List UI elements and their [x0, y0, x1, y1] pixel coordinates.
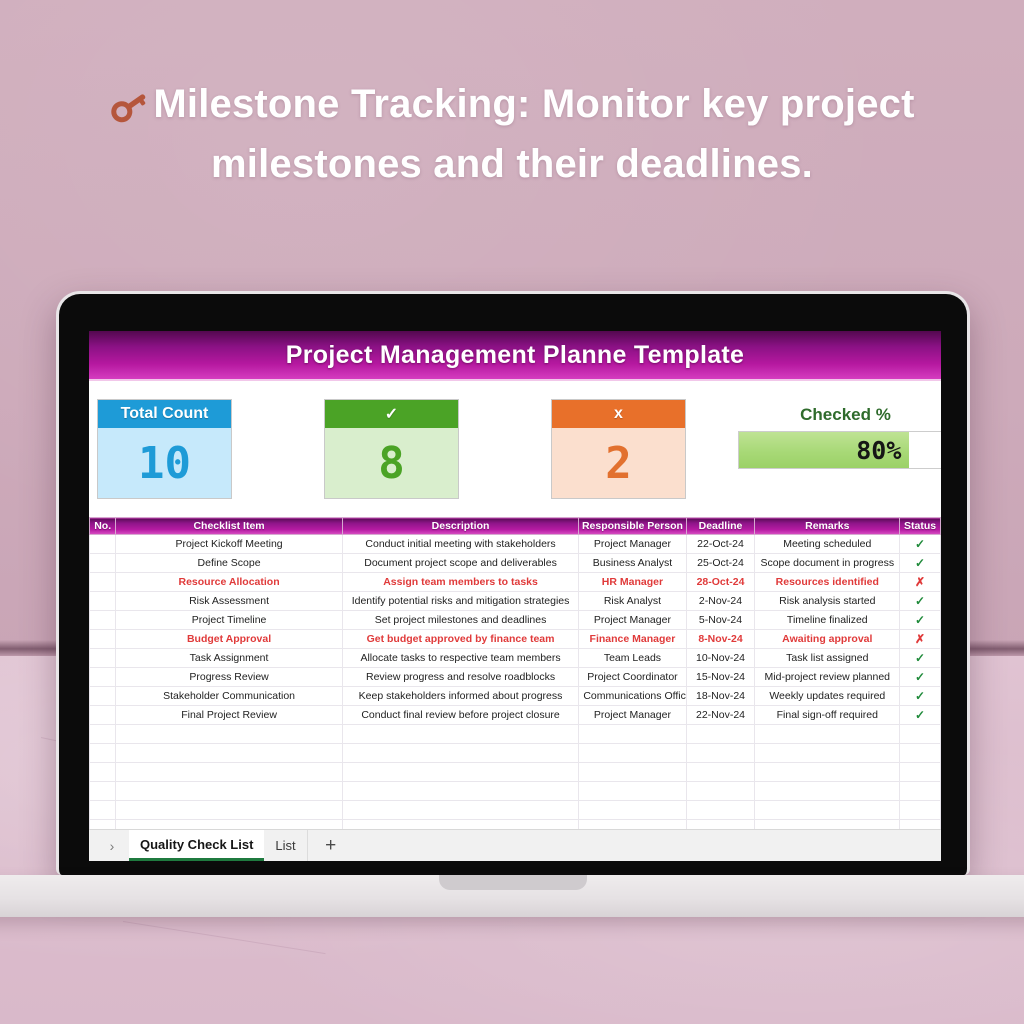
col-header-deadline[interactable]: Deadline [686, 518, 755, 535]
table-row[interactable]: Final Project ReviewConduct final review… [90, 706, 941, 725]
kpi-unchecked-count-value: 2 [552, 428, 685, 498]
cell-empty[interactable] [755, 744, 900, 763]
cell-empty[interactable] [116, 820, 342, 830]
cell-description[interactable]: Identify potential risks and mitigation … [342, 592, 579, 611]
cell-description[interactable]: Set project milestones and deadlines [342, 611, 579, 630]
cell-remarks[interactable]: Risk analysis started [755, 592, 900, 611]
cell-remarks[interactable]: Meeting scheduled [755, 535, 900, 554]
row-number[interactable] [90, 630, 116, 649]
cell-checklist-item[interactable]: Resource Allocation [116, 573, 342, 592]
table-row-empty[interactable] [90, 820, 941, 830]
table-row-empty[interactable] [90, 801, 941, 820]
cell-checklist-item[interactable]: Project Kickoff Meeting [116, 535, 342, 554]
cell-empty[interactable] [755, 801, 900, 820]
cell-responsible-person[interactable]: Team Leads [579, 649, 686, 668]
next-sheet-icon[interactable]: › [95, 830, 129, 861]
cell-empty[interactable] [342, 820, 579, 830]
cell-empty[interactable] [900, 744, 941, 763]
cell-empty[interactable] [116, 763, 342, 782]
sheet-tab-quality-check-list[interactable]: Quality Check List [129, 830, 264, 861]
cell-responsible-person[interactable]: Risk Analyst [579, 592, 686, 611]
row-number[interactable] [90, 687, 116, 706]
sheet-tab-list[interactable]: List [264, 830, 307, 861]
table-row[interactable]: Task AssignmentAllocate tasks to respect… [90, 649, 941, 668]
cell-empty[interactable] [900, 782, 941, 801]
cell-empty[interactable] [579, 801, 686, 820]
cell-empty[interactable] [90, 725, 116, 744]
cell-empty[interactable] [579, 763, 686, 782]
cell-responsible-person[interactable]: Project Manager [579, 611, 686, 630]
kpi-total-count-value: 10 [98, 428, 231, 498]
cell-empty[interactable] [90, 782, 116, 801]
cell-deadline[interactable]: 25-Oct-24 [686, 554, 755, 573]
table-row[interactable]: Resource AllocationAssign team members t… [90, 573, 941, 592]
table-row[interactable]: Budget ApprovalGet budget approved by fi… [90, 630, 941, 649]
cell-empty[interactable] [342, 763, 579, 782]
cell-empty[interactable] [342, 782, 579, 801]
cell-checklist-item[interactable]: Progress Review [116, 668, 342, 687]
cell-description[interactable]: Document project scope and deliverables [342, 554, 579, 573]
laptop-base-notch [439, 875, 587, 890]
checked-percent-label: Checked % [738, 405, 941, 425]
cell-deadline[interactable]: 2-Nov-24 [686, 592, 755, 611]
cell-description[interactable]: Allocate tasks to respective team member… [342, 649, 579, 668]
cell-responsible-person[interactable]: Project Manager [579, 535, 686, 554]
row-number[interactable] [90, 668, 116, 687]
spreadsheet-grid-area[interactable]: No. Checklist Item Description Responsib… [89, 517, 941, 829]
cell-empty[interactable] [116, 782, 342, 801]
col-header-description[interactable]: Description [342, 518, 579, 535]
cell-deadline[interactable]: 22-Nov-24 [686, 706, 755, 725]
cell-deadline[interactable]: 22-Oct-24 [686, 535, 755, 554]
cell-empty[interactable] [90, 801, 116, 820]
row-number[interactable] [90, 611, 116, 630]
cell-deadline[interactable]: 5-Nov-24 [686, 611, 755, 630]
table-row[interactable]: Risk AssessmentIdentify potential risks … [90, 592, 941, 611]
kpi-card-checked-count: ✓ 8 [324, 399, 459, 499]
cross-icon: x [552, 400, 685, 428]
cell-status[interactable]: ✓ [900, 649, 941, 668]
cell-empty[interactable] [579, 725, 686, 744]
headline-text: Milestone Tracking: Monitor key project … [153, 82, 914, 186]
cell-empty[interactable] [900, 820, 941, 830]
cell-deadline[interactable]: 18-Nov-24 [686, 687, 755, 706]
table-row-empty[interactable] [90, 744, 941, 763]
checklist-table: No. Checklist Item Description Responsib… [89, 517, 941, 829]
cell-remarks[interactable]: Scope document in progress [755, 554, 900, 573]
cell-deadline[interactable]: 10-Nov-24 [686, 649, 755, 668]
cell-empty[interactable] [755, 782, 900, 801]
checkmark-icon: ✓ [325, 400, 458, 428]
cell-deadline[interactable]: 15-Nov-24 [686, 668, 755, 687]
laptop-lid: Project Management Planne Template Total… [56, 291, 970, 875]
cell-responsible-person[interactable]: Project Coordinator [579, 668, 686, 687]
table-row[interactable]: Progress ReviewReview progress and resol… [90, 668, 941, 687]
row-number[interactable] [90, 706, 116, 725]
cell-status[interactable]: ✓ [900, 706, 941, 725]
cell-empty[interactable] [579, 820, 686, 830]
cell-empty[interactable] [116, 725, 342, 744]
cell-checklist-item[interactable]: Budget Approval [116, 630, 342, 649]
kpi-total-count-caption: Total Count [98, 400, 231, 428]
table-row[interactable]: Stakeholder CommunicationKeep stakeholde… [90, 687, 941, 706]
cell-description[interactable]: Keep stakeholders informed about progres… [342, 687, 579, 706]
checked-percent-block: Checked % 80% [738, 405, 941, 469]
cell-empty[interactable] [686, 782, 755, 801]
cell-empty[interactable] [686, 820, 755, 830]
add-sheet-button[interactable]: + [308, 830, 354, 861]
kpi-checked-count-value: 8 [325, 428, 458, 498]
cell-status[interactable]: ✓ [900, 668, 941, 687]
cell-checklist-item[interactable]: Define Scope [116, 554, 342, 573]
cell-description[interactable]: Conduct final review before project clos… [342, 706, 579, 725]
cell-responsible-person[interactable]: Communications Officer [579, 687, 686, 706]
row-number[interactable] [90, 649, 116, 668]
row-number[interactable] [90, 573, 116, 592]
cell-empty[interactable] [900, 801, 941, 820]
cell-empty[interactable] [686, 801, 755, 820]
cell-empty[interactable] [686, 725, 755, 744]
cell-status[interactable]: ✓ [900, 554, 941, 573]
screenshot-canvas: Milestone Tracking: Monitor key project … [0, 0, 1024, 1024]
cell-description[interactable]: Conduct initial meeting with stakeholder… [342, 535, 579, 554]
cell-checklist-item[interactable]: Project Timeline [116, 611, 342, 630]
cell-remarks[interactable]: Final sign-off required [755, 706, 900, 725]
cell-empty[interactable] [755, 763, 900, 782]
table-row-empty[interactable] [90, 725, 941, 744]
cell-checklist-item[interactable]: Stakeholder Communication [116, 687, 342, 706]
cell-empty[interactable] [579, 782, 686, 801]
col-header-status[interactable]: Status [900, 518, 941, 535]
spreadsheet-app: Project Management Planne Template Total… [89, 331, 941, 861]
cell-remarks[interactable]: Weekly updates required [755, 687, 900, 706]
kpi-card-unchecked-count: x 2 [551, 399, 686, 499]
table-row[interactable]: Project Kickoff MeetingConduct initial m… [90, 535, 941, 554]
cell-empty[interactable] [342, 744, 579, 763]
table-row[interactable]: Project TimelineSet project milestones a… [90, 611, 941, 630]
cell-description[interactable]: Get budget approved by finance team [342, 630, 579, 649]
cell-responsible-person[interactable]: Project Manager [579, 706, 686, 725]
cell-empty[interactable] [90, 744, 116, 763]
cell-empty[interactable] [90, 763, 116, 782]
cell-remarks[interactable]: Timeline finalized [755, 611, 900, 630]
cell-empty[interactable] [686, 763, 755, 782]
row-number[interactable] [90, 554, 116, 573]
cell-responsible-person[interactable]: Business Analyst [579, 554, 686, 573]
table-row-empty[interactable] [90, 782, 941, 801]
cell-checklist-item[interactable]: Final Project Review [116, 706, 342, 725]
page-headline: Milestone Tracking: Monitor key project … [92, 74, 932, 194]
cell-empty[interactable] [755, 820, 900, 830]
cell-remarks[interactable]: Awaiting approval [755, 630, 900, 649]
kpi-card-total-count: Total Count 10 [97, 399, 232, 499]
laptop-mockup: Project Management Planne Template Total… [56, 291, 970, 911]
key-icon [109, 80, 151, 114]
sheet-tab-bar: › Quality Check List List + [89, 829, 941, 861]
cell-status[interactable]: ✓ [900, 611, 941, 630]
cell-checklist-item[interactable]: Task Assignment [116, 649, 342, 668]
col-header-responsible-person[interactable]: Responsible Person [579, 518, 686, 535]
row-number[interactable] [90, 535, 116, 554]
cell-empty[interactable] [579, 744, 686, 763]
col-header-no[interactable]: No. [90, 518, 116, 535]
sheet-title: Project Management Planne Template [286, 341, 744, 370]
cell-empty[interactable] [342, 801, 579, 820]
cell-remarks[interactable]: Mid-project review planned [755, 668, 900, 687]
cell-empty[interactable] [755, 725, 900, 744]
kpi-strip: Total Count 10 ✓ 8 x 2 Checked % [89, 381, 941, 517]
col-header-checklist-item[interactable]: Checklist Item [116, 518, 342, 535]
cell-responsible-person[interactable]: Finance Manager [579, 630, 686, 649]
checked-percent-value: 80% [856, 432, 909, 468]
cell-status[interactable]: ✓ [900, 592, 941, 611]
cell-remarks[interactable]: Resources identified [755, 573, 900, 592]
cell-status[interactable]: ✓ [900, 535, 941, 554]
cell-status[interactable]: ✗ [900, 630, 941, 649]
table-row[interactable]: Define ScopeDocument project scope and d… [90, 554, 941, 573]
col-header-remarks[interactable]: Remarks [755, 518, 900, 535]
cell-empty[interactable] [116, 744, 342, 763]
cell-description[interactable]: Review progress and resolve roadblocks [342, 668, 579, 687]
cell-deadline[interactable]: 28-Oct-24 [686, 573, 755, 592]
cell-empty[interactable] [900, 725, 941, 744]
cell-deadline[interactable]: 8-Nov-24 [686, 630, 755, 649]
cell-empty[interactable] [900, 763, 941, 782]
table-body: Project Kickoff MeetingConduct initial m… [90, 535, 941, 830]
laptop-screen: Project Management Planne Template Total… [89, 331, 941, 861]
cell-remarks[interactable]: Task list assigned [755, 649, 900, 668]
cell-checklist-item[interactable]: Risk Assessment [116, 592, 342, 611]
cell-status[interactable]: ✓ [900, 687, 941, 706]
cell-description[interactable]: Assign team members to tasks [342, 573, 579, 592]
cell-empty[interactable] [342, 725, 579, 744]
cell-responsible-person[interactable]: HR Manager [579, 573, 686, 592]
cell-status[interactable]: ✗ [900, 573, 941, 592]
cell-empty[interactable] [116, 801, 342, 820]
cell-empty[interactable] [686, 744, 755, 763]
checked-percent-bar: 80% [738, 431, 941, 469]
table-header-row: No. Checklist Item Description Responsib… [90, 518, 941, 535]
table-row-empty[interactable] [90, 763, 941, 782]
sheet-title-band: Project Management Planne Template [89, 331, 941, 381]
row-number[interactable] [90, 592, 116, 611]
cell-empty[interactable] [90, 820, 116, 830]
